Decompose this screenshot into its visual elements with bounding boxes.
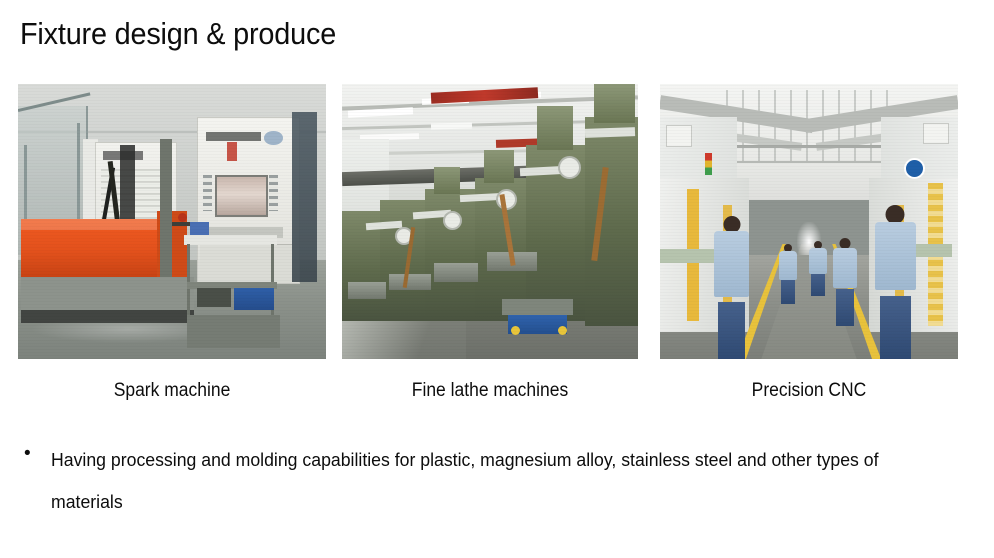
photo1-machine-side-dark bbox=[292, 112, 317, 283]
photo1-blue-box bbox=[190, 222, 208, 236]
photo3-worker-mid bbox=[833, 238, 857, 326]
photo2-machine-table-1 bbox=[348, 282, 386, 299]
photo3-overhead-pipe bbox=[714, 145, 905, 148]
photo2-machine-table-2 bbox=[389, 274, 430, 291]
photo1-machine-column bbox=[160, 139, 172, 277]
photo-row bbox=[0, 84, 994, 360]
photo1-cabinet-lower bbox=[187, 315, 279, 348]
page-title: Fixture design & produce bbox=[20, 14, 336, 54]
photo2-machine-arm-5 bbox=[585, 127, 636, 138]
photo2-machine-head-6 bbox=[594, 84, 635, 123]
photo1-brand-badge bbox=[264, 131, 282, 145]
photo3-worker-far-left bbox=[779, 244, 797, 305]
photo3-worker-pants bbox=[781, 280, 795, 304]
photo3-worker-near-left bbox=[714, 216, 750, 359]
photo3-worker-pants bbox=[880, 296, 912, 359]
photo1-parts-pile bbox=[197, 288, 231, 307]
photo2-machine-3 bbox=[425, 189, 481, 321]
photo1-work-table-top bbox=[184, 235, 276, 245]
photo1-brand-mark-red bbox=[227, 142, 236, 161]
bullet-marker-icon: • bbox=[20, 439, 51, 469]
photo3-status-light-tower bbox=[705, 153, 712, 175]
photo-precision-cnc[interactable] bbox=[660, 84, 958, 359]
photo3-wall-sign-right bbox=[923, 123, 949, 144]
caption-precision-cnc: Precision CNC bbox=[672, 379, 946, 403]
photo2-cart-wheel-right bbox=[558, 326, 567, 335]
photo3-worker-near-right bbox=[875, 205, 917, 359]
bullet-list: • Having processing and molding capabili… bbox=[20, 439, 940, 523]
photo3-worker-shirt bbox=[809, 248, 827, 274]
photo-fine-lathe-machines[interactable] bbox=[342, 84, 638, 359]
bullet-item-capabilities: Having processing and molding capabiliti… bbox=[51, 439, 891, 523]
photo-spark-machine[interactable] bbox=[18, 84, 326, 359]
photo1-base-shadow bbox=[21, 310, 193, 324]
photo2-cart-platform bbox=[502, 299, 573, 316]
photo3-worker-far-right bbox=[809, 241, 827, 296]
caption-fine-lathe-machines: Fine lathe machines bbox=[354, 379, 626, 403]
photo3-worker-shirt bbox=[833, 248, 857, 288]
photo2-ceiling-light-4 bbox=[431, 122, 473, 129]
photo3-worker-pants bbox=[718, 302, 745, 359]
photo1-button-column-right bbox=[269, 175, 278, 211]
photo3-worker-pants bbox=[811, 274, 825, 296]
photo1-blue-crate bbox=[234, 288, 274, 310]
photo1-machine-screen bbox=[215, 175, 268, 218]
photo2-machine-head-5 bbox=[537, 106, 573, 150]
photo1-button-column-left bbox=[203, 175, 212, 211]
photo2-machine-head-3 bbox=[434, 167, 461, 195]
photo2-handwheel-2 bbox=[443, 211, 462, 230]
photo3-worker-shirt bbox=[779, 251, 797, 280]
photo3-worker-pants bbox=[836, 289, 854, 326]
photo2-machine-6 bbox=[585, 117, 638, 326]
photo2-handwheel-4 bbox=[558, 156, 581, 179]
photo3-overhead-pipe-2 bbox=[737, 161, 880, 163]
photo1-machine-door bbox=[200, 244, 292, 278]
photo3-worker-shirt bbox=[875, 222, 917, 290]
photo1-charmilles-brand-plate bbox=[206, 132, 261, 141]
photo2-cart-wheel-left bbox=[511, 326, 520, 335]
photo3-worker-shirt bbox=[714, 231, 750, 297]
photo2-machine-head-4 bbox=[484, 150, 514, 183]
caption-spark-machine: Spark machine bbox=[30, 379, 313, 403]
photo3-wall-sign-left bbox=[666, 125, 692, 146]
photo2-machine-table-3 bbox=[434, 263, 478, 282]
